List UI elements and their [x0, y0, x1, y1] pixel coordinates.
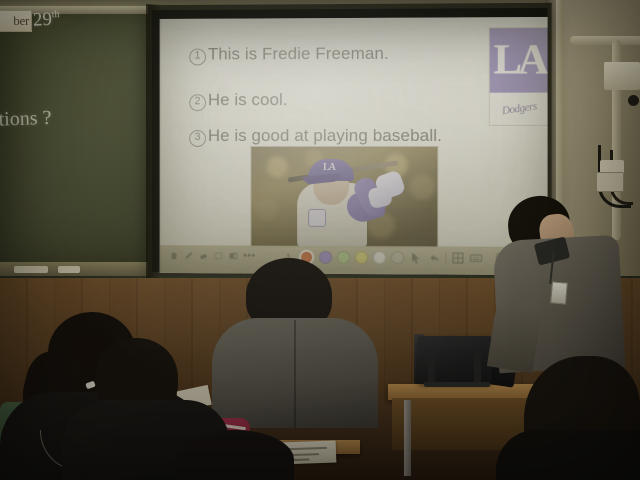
date-card: ber [0, 10, 32, 32]
color-swatch-clear[interactable] [391, 251, 404, 264]
grid-icon[interactable] [451, 251, 464, 264]
select-icon[interactable] [214, 251, 223, 260]
presentation-slide: 1This is Fredie Freeman. 2He is cool. 3H… [160, 17, 548, 247]
chalk-piece [14, 266, 48, 273]
pages-icon[interactable] [229, 251, 238, 260]
wall-junction-box [604, 62, 640, 90]
dodgers-la-logo: LA [494, 39, 545, 81]
wall-speaker-icon [628, 95, 639, 106]
slide-line-3: 3He is good at playing baseball. [189, 126, 442, 147]
toolbar-center-group[interactable]: A [284, 250, 482, 266]
tablet-stand-base [424, 382, 490, 387]
color-swatch-yellow[interactable] [355, 251, 368, 264]
slide-bullet-number: 3 [189, 130, 206, 147]
conduit-pipe-horizontal [570, 36, 640, 45]
slide-bullet-number: 2 [189, 94, 206, 111]
dodgers-script-text: Dodgers [501, 100, 537, 117]
toolbar-overflow-icon[interactable]: ••• [244, 252, 256, 261]
dodgers-logo-card: LA Dodgers [489, 27, 548, 126]
slide-line-3-text: He is good at playing baseball. [208, 126, 442, 145]
tablet-stand-leg [428, 350, 435, 386]
dodgers-logo-mark-area: LA [490, 28, 548, 93]
whiteboard-toolbar[interactable]: ••• A [160, 245, 548, 275]
eraser-icon[interactable] [199, 251, 208, 260]
power-outlet-lower [596, 172, 624, 192]
home-icon[interactable] [170, 251, 179, 260]
pen-icon[interactable] [184, 251, 193, 260]
tablet-stand-leg [474, 350, 481, 386]
date-card-label: ber [13, 13, 29, 29]
desk-leg [404, 400, 411, 476]
right-front-student-jacket [496, 430, 640, 480]
slide-line-2: 2He is cool. [189, 90, 287, 111]
dodgers-logo-script-area: Dodgers [490, 93, 548, 125]
conduit-pipe-secondary [556, 0, 563, 230]
slide-line-1-text: This is Fredie Freeman. [208, 44, 389, 64]
keyboard-icon[interactable] [469, 252, 482, 265]
chalk-piece [58, 266, 80, 273]
color-swatch-white[interactable] [373, 251, 386, 264]
chalkboard [0, 6, 168, 268]
undo-icon[interactable] [427, 251, 440, 264]
color-swatch-green[interactable] [337, 251, 350, 264]
slide-line-1: 1This is Fredie Freeman. [189, 44, 389, 66]
color-swatch-purple[interactable] [319, 251, 332, 264]
slide-bullet-number: 1 [189, 49, 206, 66]
chalk-dust [0, 6, 168, 268]
toolbar-left-group[interactable]: ••• [170, 251, 256, 260]
baseball-player-photo: LA [250, 146, 438, 248]
chalk-date-number: 29 [32, 9, 52, 31]
toolbar-divider [445, 252, 446, 263]
projection-screen-frame: 1This is Fredie Freeman. 2He is cool. 3H… [148, 3, 552, 279]
screen-bezel: 1This is Fredie Freeman. 2He is cool. 3H… [152, 8, 548, 274]
pointer-icon[interactable] [409, 251, 422, 264]
chalk-questions-text: estions ? [0, 107, 52, 132]
blazer-seam [294, 320, 296, 428]
projection-screen[interactable]: 1This is Fredie Freeman. 2He is cool. 3H… [160, 17, 548, 275]
presenter-id-badge [550, 281, 568, 304]
photo-blur-overlay [251, 147, 437, 247]
classroom-photo: ber 29th estions ? 1This is Fredie Freem… [0, 0, 640, 480]
chalk-date: 29th [32, 8, 60, 31]
chalk-date-suffix: th [51, 9, 59, 20]
slide-line-2-text: He is cool. [208, 90, 288, 109]
